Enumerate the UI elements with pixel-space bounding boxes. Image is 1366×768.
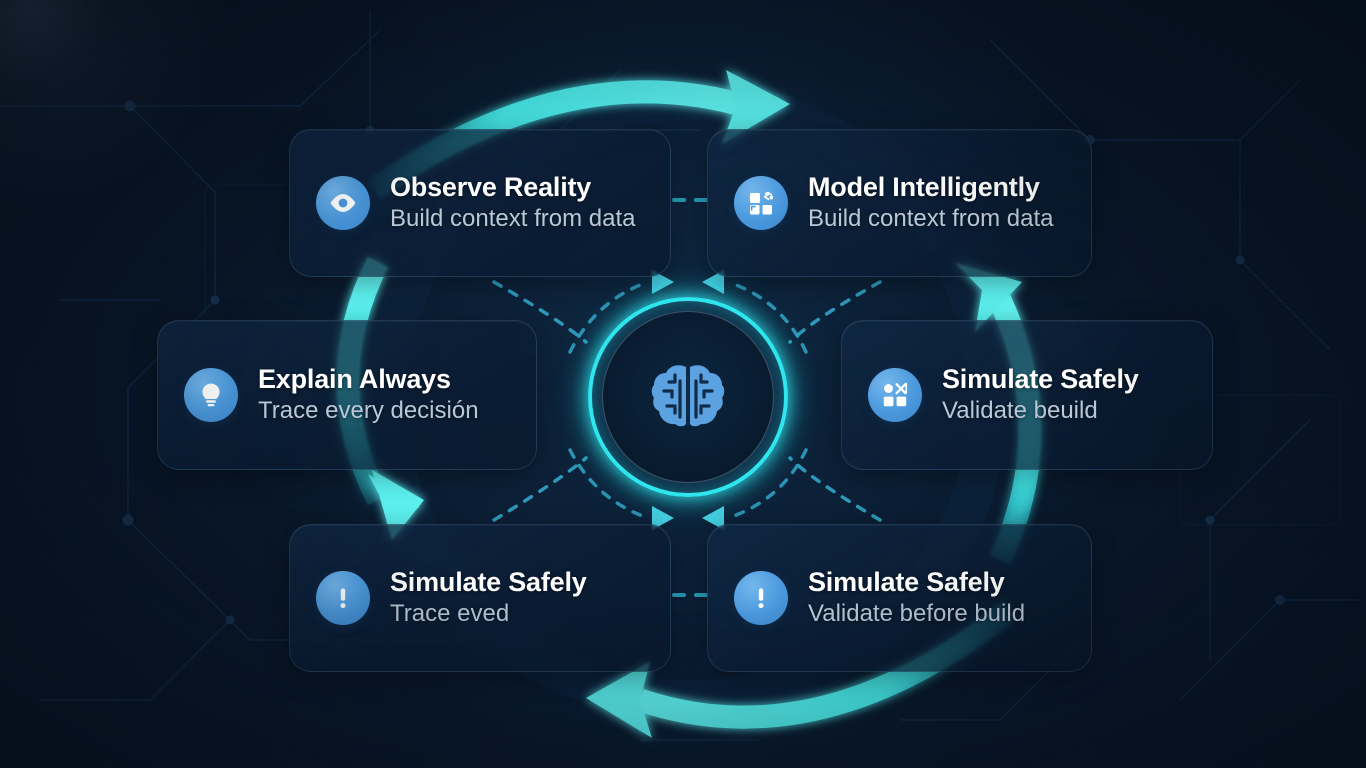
vignette-overlay [0, 0, 1366, 768]
